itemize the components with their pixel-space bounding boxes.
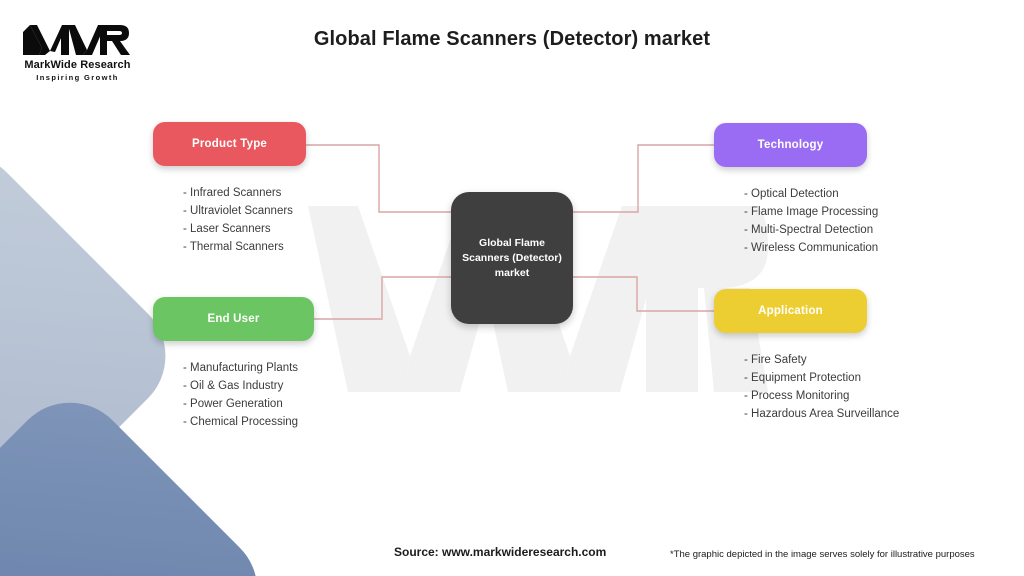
branch-items-product-type: - Infrared Scanners - Ultraviolet Scanne… (153, 184, 306, 256)
branch-technology: Technology - Optical Detection - Flame I… (714, 123, 867, 257)
branch-header-technology[interactable]: Technology (714, 123, 867, 167)
connector-application (573, 277, 714, 311)
list-item: - Process Monitoring (744, 387, 867, 405)
branch-header-product-type[interactable]: Product Type (153, 122, 306, 166)
list-item: - Multi-Spectral Detection (744, 221, 867, 239)
list-item: - Hazardous Area Surveillance (744, 405, 867, 423)
list-item: - Laser Scanners (183, 220, 306, 238)
branch-product-type: Product Type - Infrared Scanners - Ultra… (153, 122, 306, 256)
brand-tagline: Inspiring Growth (15, 73, 140, 82)
branch-end-user: End User - Manufacturing Plants - Oil & … (153, 297, 314, 431)
list-item: - Power Generation (183, 395, 314, 413)
footer-source: Source: www.markwideresearch.com (394, 545, 606, 559)
list-item: - Infrared Scanners (183, 184, 306, 202)
list-item: - Ultraviolet Scanners (183, 202, 306, 220)
footer-disclaimer: *The graphic depicted in the image serve… (670, 549, 975, 560)
branch-title-technology: Technology (758, 139, 824, 151)
branch-header-end-user[interactable]: End User (153, 297, 314, 341)
list-item: - Fire Safety (744, 351, 867, 369)
list-item: - Flame Image Processing (744, 203, 867, 221)
list-item: - Oil & Gas Industry (183, 377, 314, 395)
branch-items-end-user: - Manufacturing Plants - Oil & Gas Indus… (153, 359, 314, 431)
connector-product-type (306, 145, 451, 212)
list-item: - Equipment Protection (744, 369, 867, 387)
center-node[interactable]: Global Flame Scanners (Detector) market (451, 192, 573, 324)
branch-title-end-user: End User (207, 313, 259, 325)
list-item: - Thermal Scanners (183, 238, 306, 256)
branch-items-technology: - Optical Detection - Flame Image Proces… (714, 185, 867, 257)
brand-name: MarkWide Research (15, 59, 140, 71)
page-title: Global Flame Scanners (Detector) market (0, 28, 1024, 51)
list-item: - Chemical Processing (183, 413, 314, 431)
branch-title-product-type: Product Type (192, 138, 267, 150)
branch-application: Application - Fire Safety - Equipment Pr… (714, 289, 867, 423)
list-item: - Manufacturing Plants (183, 359, 314, 377)
connector-end-user (314, 277, 451, 319)
branch-title-application: Application (758, 305, 823, 317)
infographic-canvas: MarkWide Research Inspiring Growth Globa… (0, 0, 1024, 576)
branch-header-application[interactable]: Application (714, 289, 867, 333)
list-item: - Optical Detection (744, 185, 867, 203)
list-item: - Wireless Communication (744, 239, 867, 257)
center-node-label: Global Flame Scanners (Detector) market (462, 236, 562, 281)
branch-items-application: - Fire Safety - Equipment Protection - P… (714, 351, 867, 423)
connector-technology (573, 145, 714, 212)
